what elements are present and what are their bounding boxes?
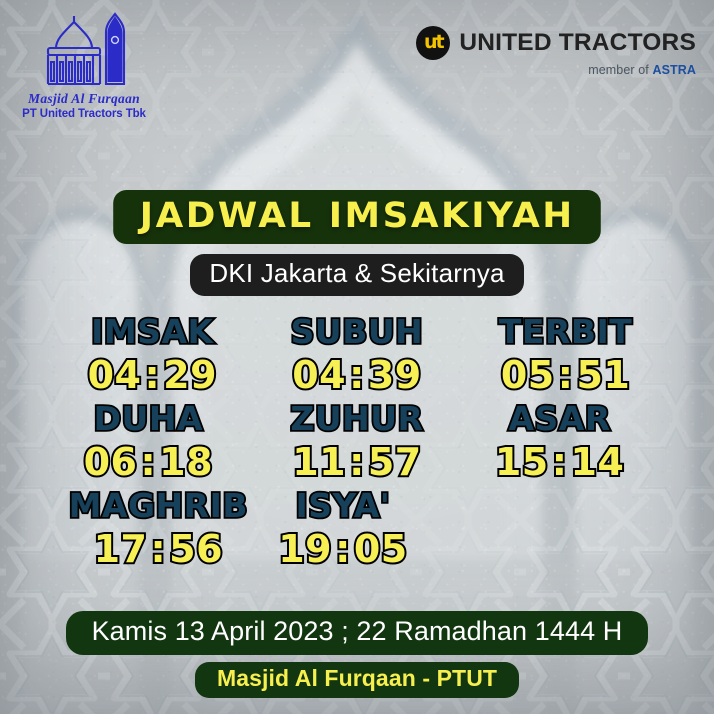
time-separator: : xyxy=(346,440,368,484)
prayer-time: 15:14 xyxy=(455,439,664,486)
prayer-cell-asar: ASAR 15:14 xyxy=(455,399,664,486)
prayer-label: ISYA' xyxy=(239,486,448,526)
prayer-row: IMSAK 04:29 SUBUH 04:39 TERBIT 05:51 xyxy=(44,312,670,399)
united-tractors-logo: ut UNITED TRACTORS member of ASTRA xyxy=(416,26,696,77)
prayer-label: IMSAK xyxy=(48,312,257,352)
masjid-logo: Masjid Al Furqaan PT United Tractors Tbk xyxy=(14,10,154,120)
page-title: JADWAL IMSAKIYAH xyxy=(113,190,601,244)
prayer-minute: 56 xyxy=(169,527,223,571)
ut-member-line: member of ASTRA xyxy=(416,63,696,77)
ut-wordmark: UNITED TRACTORS xyxy=(459,29,696,57)
prayer-times-grid: IMSAK 04:29 SUBUH 04:39 TERBIT 05:51 DUH… xyxy=(0,312,714,573)
prayer-cell-duha: DUHA 06:18 xyxy=(44,399,253,486)
prayer-hour: 05 xyxy=(501,353,555,397)
masjid-banner: Masjid Al Furqaan - PTUT xyxy=(195,662,519,698)
time-separator: : xyxy=(147,527,169,571)
prayer-hour: 04 xyxy=(88,353,142,397)
prayer-label: MAGHRIB xyxy=(54,486,263,526)
ut-monogram-text: ut xyxy=(424,33,443,52)
title-block: JADWAL IMSAKIYAH DKI Jakarta & Sekitarny… xyxy=(0,190,714,296)
prayer-label: TERBIT xyxy=(461,312,670,352)
prayer-row: DUHA 06:18 ZUHUR 11:57 ASAR 15:14 xyxy=(44,399,670,486)
time-separator: : xyxy=(555,353,577,397)
prayer-hour: 17 xyxy=(94,527,148,571)
page-subtitle: DKI Jakarta & Sekitarnya xyxy=(190,254,523,296)
prayer-cell-terbit: TERBIT 05:51 xyxy=(461,312,670,399)
masjid-logo-name: Masjid Al Furqaan xyxy=(14,91,154,107)
prayer-cell-maghrib: MAGHRIB 17:56 xyxy=(54,486,263,573)
prayer-hour: 11 xyxy=(292,440,346,484)
prayer-minute: 18 xyxy=(159,440,213,484)
prayer-label: SUBUH xyxy=(253,312,462,352)
prayer-label: ZUHUR xyxy=(253,399,462,439)
prayer-label: DUHA xyxy=(44,399,253,439)
prayer-time: 04:29 xyxy=(48,352,257,399)
prayer-row: MAGHRIB 17:56 ISYA' 19:05 xyxy=(44,486,670,573)
prayer-time: 04:39 xyxy=(253,352,462,399)
prayer-minute: 29 xyxy=(163,353,217,397)
prayer-time: 05:51 xyxy=(461,352,670,399)
masjid-logo-company: PT United Tractors Tbk xyxy=(14,108,154,120)
prayer-minute: 57 xyxy=(368,440,422,484)
ut-member-group: ASTRA xyxy=(652,63,696,77)
prayer-time: 06:18 xyxy=(44,439,253,486)
time-separator: : xyxy=(141,353,163,397)
time-separator: : xyxy=(549,440,571,484)
ut-monogram-icon: ut xyxy=(416,26,450,60)
prayer-cell-isya: ISYA' 19:05 xyxy=(239,486,448,573)
prayer-hour: 06 xyxy=(84,440,138,484)
prayer-hour: 19 xyxy=(278,527,332,571)
date-banner: Kamis 13 April 2023 ; 22 Ramadhan 1444 H xyxy=(66,611,649,655)
time-separator: : xyxy=(346,353,368,397)
prayer-cell-subuh: SUBUH 04:39 xyxy=(253,312,462,399)
prayer-minute: 39 xyxy=(368,353,422,397)
prayer-time: 11:57 xyxy=(253,439,462,486)
prayer-label: ASAR xyxy=(455,399,664,439)
prayer-time: 19:05 xyxy=(239,526,448,573)
prayer-minute: 51 xyxy=(576,353,630,397)
prayer-cell-imsak: IMSAK 04:29 xyxy=(48,312,257,399)
imsakiyah-poster: Masjid Al Furqaan PT United Tractors Tbk… xyxy=(0,0,714,714)
prayer-time: 17:56 xyxy=(54,526,263,573)
mosque-icon xyxy=(34,10,134,90)
prayer-cell-zuhur: ZUHUR 11:57 xyxy=(253,399,462,486)
footer-block: Kamis 13 April 2023 ; 22 Ramadhan 1444 H… xyxy=(0,611,714,698)
prayer-hour: 15 xyxy=(495,440,549,484)
ut-member-prefix: member of xyxy=(588,63,652,77)
prayer-minute: 14 xyxy=(570,440,624,484)
prayer-hour: 04 xyxy=(292,353,346,397)
time-separator: : xyxy=(137,440,159,484)
time-separator: : xyxy=(332,527,354,571)
prayer-minute: 05 xyxy=(354,527,408,571)
